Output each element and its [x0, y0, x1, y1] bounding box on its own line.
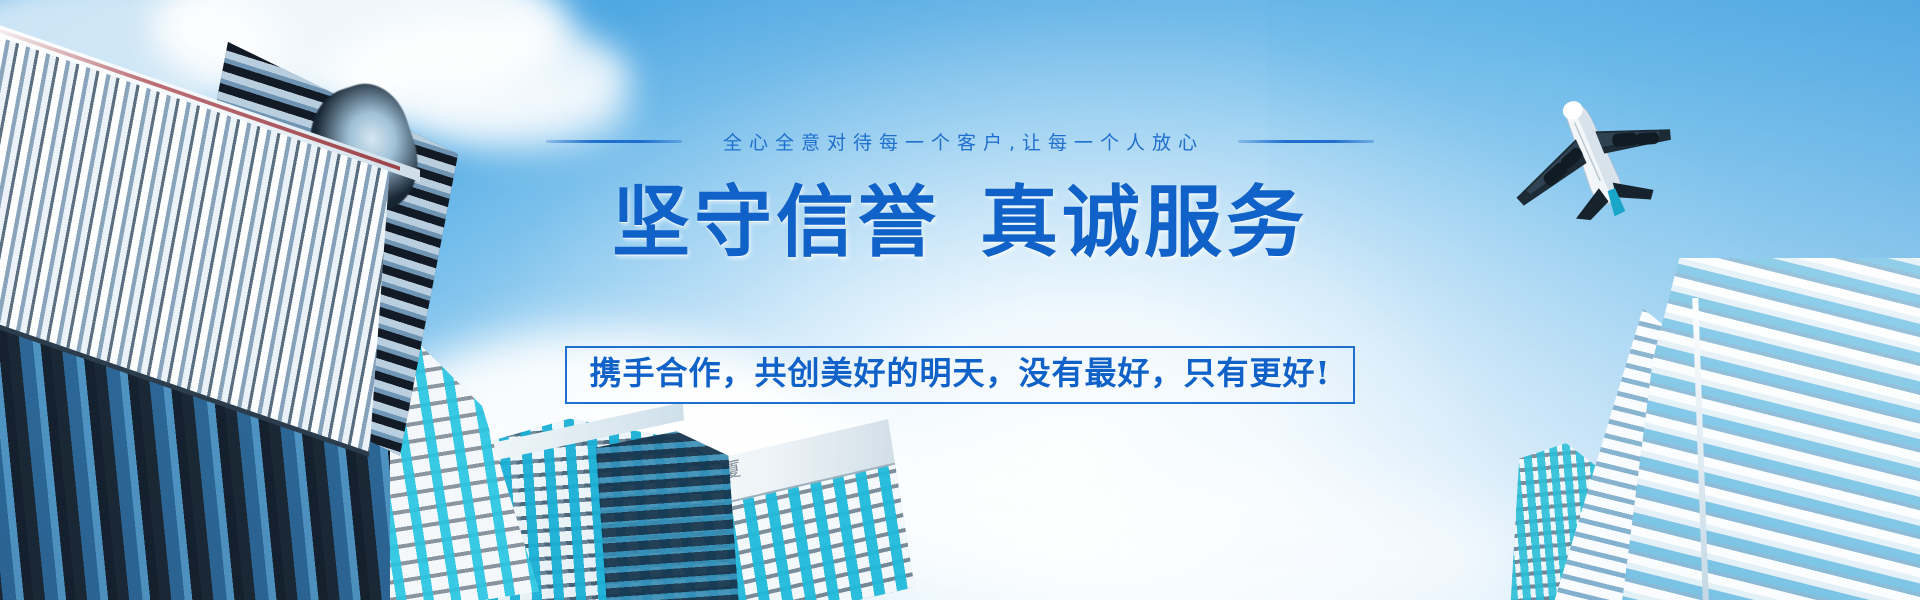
- banner-headline: 坚守信誉真诚服务: [612, 184, 1308, 262]
- decorative-line-left: [546, 140, 682, 143]
- hero-banner: 联合大厦: [0, 0, 1920, 600]
- tagline-row: 全心全意对待每一个客户,让每一个人放心: [546, 128, 1374, 154]
- banner-content: 全心全意对待每一个客户,让每一个人放心 坚守信誉真诚服务 携手合作，共创美好的明…: [0, 0, 1920, 600]
- banner-subtitle: 携手合作，共创美好的明天，没有最好，只有更好!: [589, 357, 1330, 391]
- subtitle-box: 携手合作，共创美好的明天，没有最好，只有更好!: [565, 346, 1354, 404]
- banner-tagline: 全心全意对待每一个客户,让每一个人放心: [716, 128, 1204, 155]
- headline-part-right: 真诚服务: [980, 177, 1308, 268]
- headline-part-left: 坚守信誉: [612, 177, 940, 268]
- decorative-line-right: [1238, 140, 1374, 143]
